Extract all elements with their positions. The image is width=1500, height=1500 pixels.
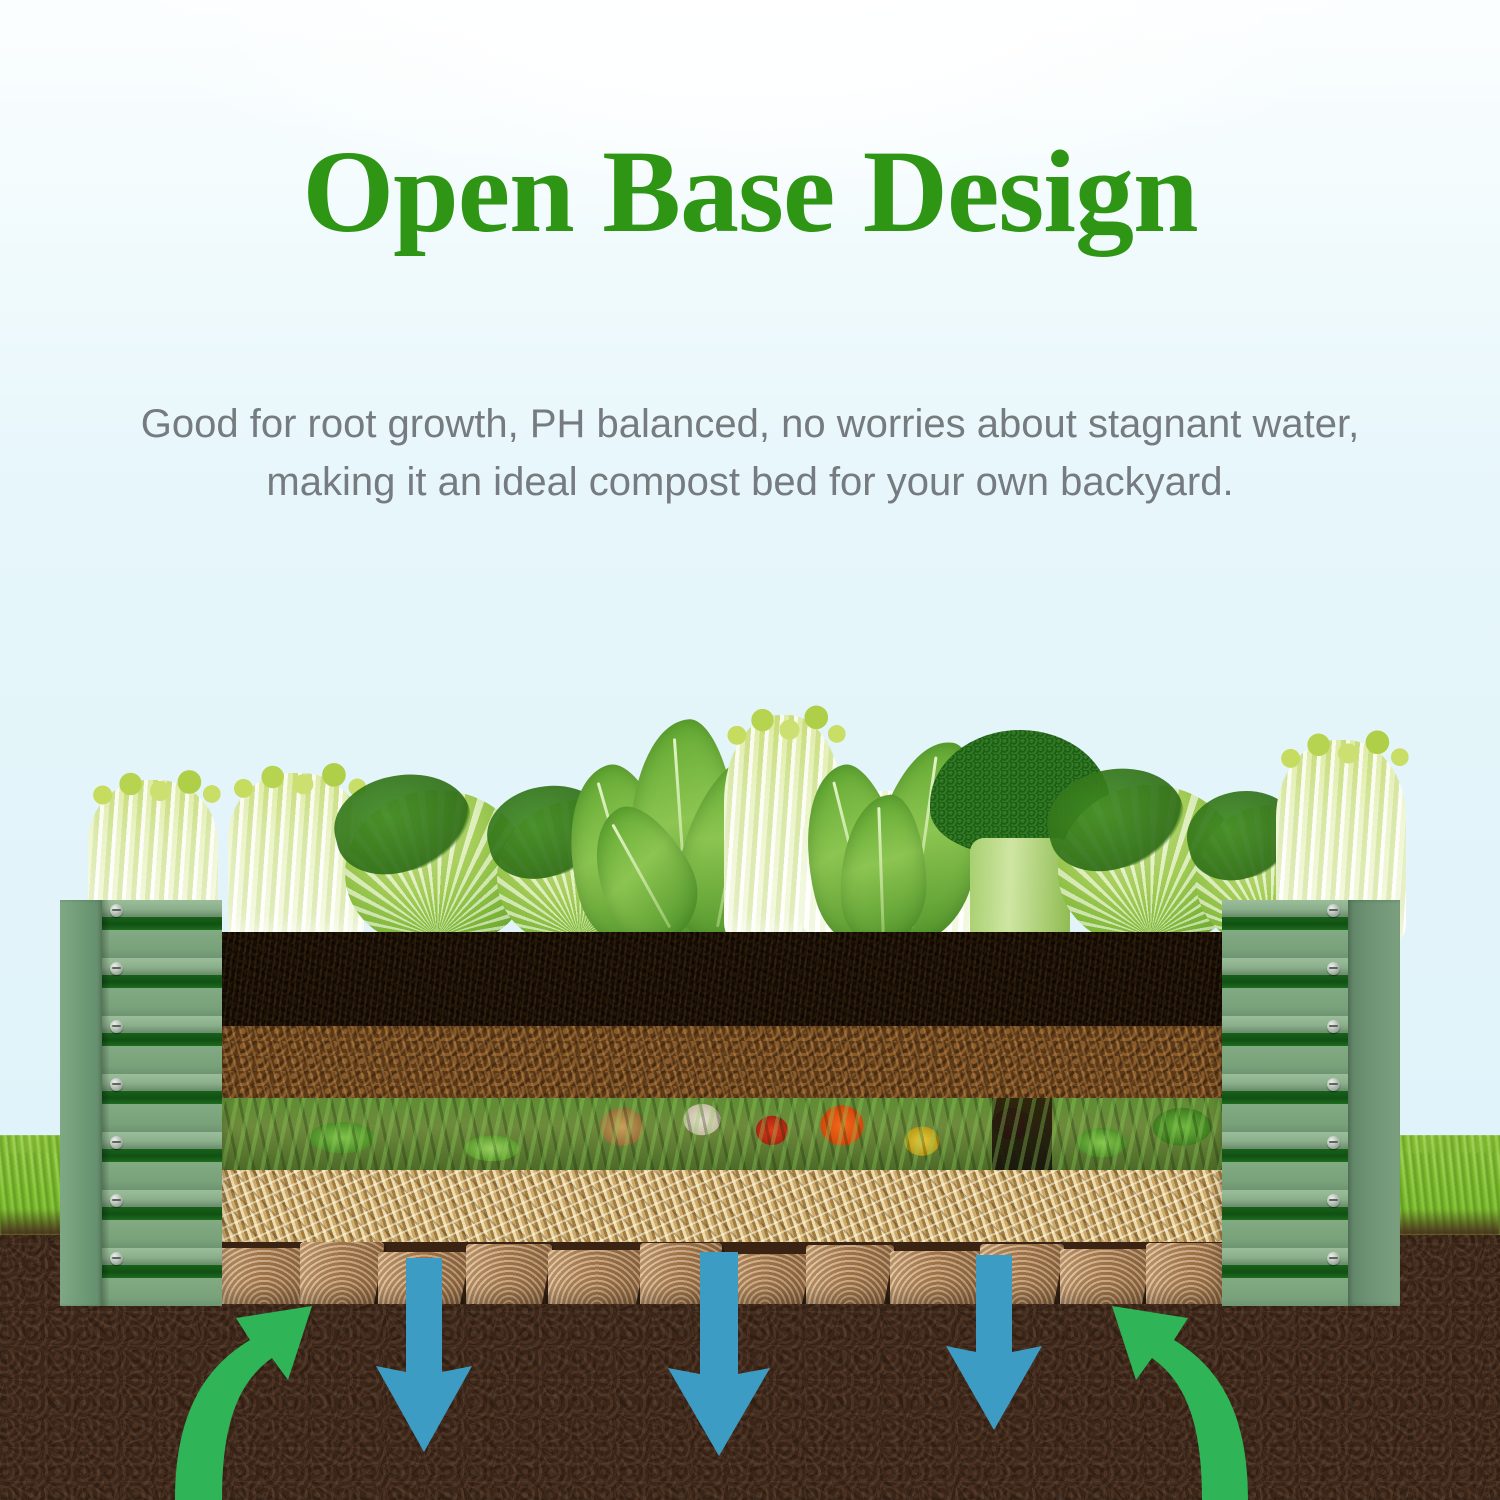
page-subtitle: Good for root growth, PH balanced, no wo… <box>70 395 1430 511</box>
log <box>1060 1249 1152 1304</box>
compost-cross-section <box>222 932 1222 1304</box>
page-title: Open Base Design <box>0 133 1500 251</box>
broccoli-stalk <box>970 838 1071 946</box>
panel-screw <box>110 1252 123 1265</box>
cabbage-frill <box>1271 715 1411 777</box>
scraps-dark-patch <box>992 1098 1052 1170</box>
post-left-face <box>102 900 222 1306</box>
log <box>222 1248 312 1304</box>
panel-screw <box>110 1020 123 1033</box>
post-right-side-panel <box>1348 900 1400 1306</box>
subtitle-line-1: Good for root growth, PH balanced, no wo… <box>70 395 1430 453</box>
layer-bark-compost <box>222 1026 1222 1098</box>
post-left-side-panel <box>60 900 102 1306</box>
log <box>890 1251 986 1304</box>
bed-post-left <box>60 900 222 1306</box>
post-right-face <box>1222 900 1348 1306</box>
post-left-edge-shadow <box>102 900 110 1306</box>
layer-logs <box>222 1242 1222 1304</box>
infographic-canvas: Open Base Design Good for root growth, P… <box>0 0 1500 1500</box>
log <box>640 1243 722 1304</box>
post-right-slats <box>1222 900 1348 1306</box>
log <box>980 1244 1064 1304</box>
log <box>718 1254 812 1304</box>
layer-straw <box>222 1170 1222 1242</box>
log <box>1146 1243 1222 1304</box>
panel-screw <box>110 1136 123 1149</box>
log <box>300 1242 384 1304</box>
panel-screw <box>110 1194 123 1207</box>
layer-topsoil <box>222 932 1222 1026</box>
log <box>806 1245 894 1304</box>
log <box>548 1250 646 1304</box>
panel-screw <box>1327 1194 1340 1207</box>
panel-screw <box>110 904 123 917</box>
panel-screw <box>1327 1078 1340 1091</box>
cabbage-frill <box>83 760 223 810</box>
cabbage-frill <box>223 752 370 804</box>
subtitle-line-2: making it an ideal compost bed for your … <box>70 453 1430 511</box>
log <box>466 1244 552 1304</box>
post-left-slats <box>102 900 222 1306</box>
panel-screw <box>1327 1020 1340 1033</box>
panel-screw <box>1327 962 1340 975</box>
layer-kitchen-scraps <box>222 1098 1222 1170</box>
bed-post-right <box>1222 900 1400 1306</box>
vegetable-row <box>0 600 1500 945</box>
panel-screw <box>110 962 123 975</box>
panel-screw <box>110 1078 123 1091</box>
log <box>378 1252 470 1304</box>
panel-screw <box>1327 1252 1340 1265</box>
panel-screw <box>1327 1136 1340 1149</box>
panel-screw <box>1327 904 1340 917</box>
